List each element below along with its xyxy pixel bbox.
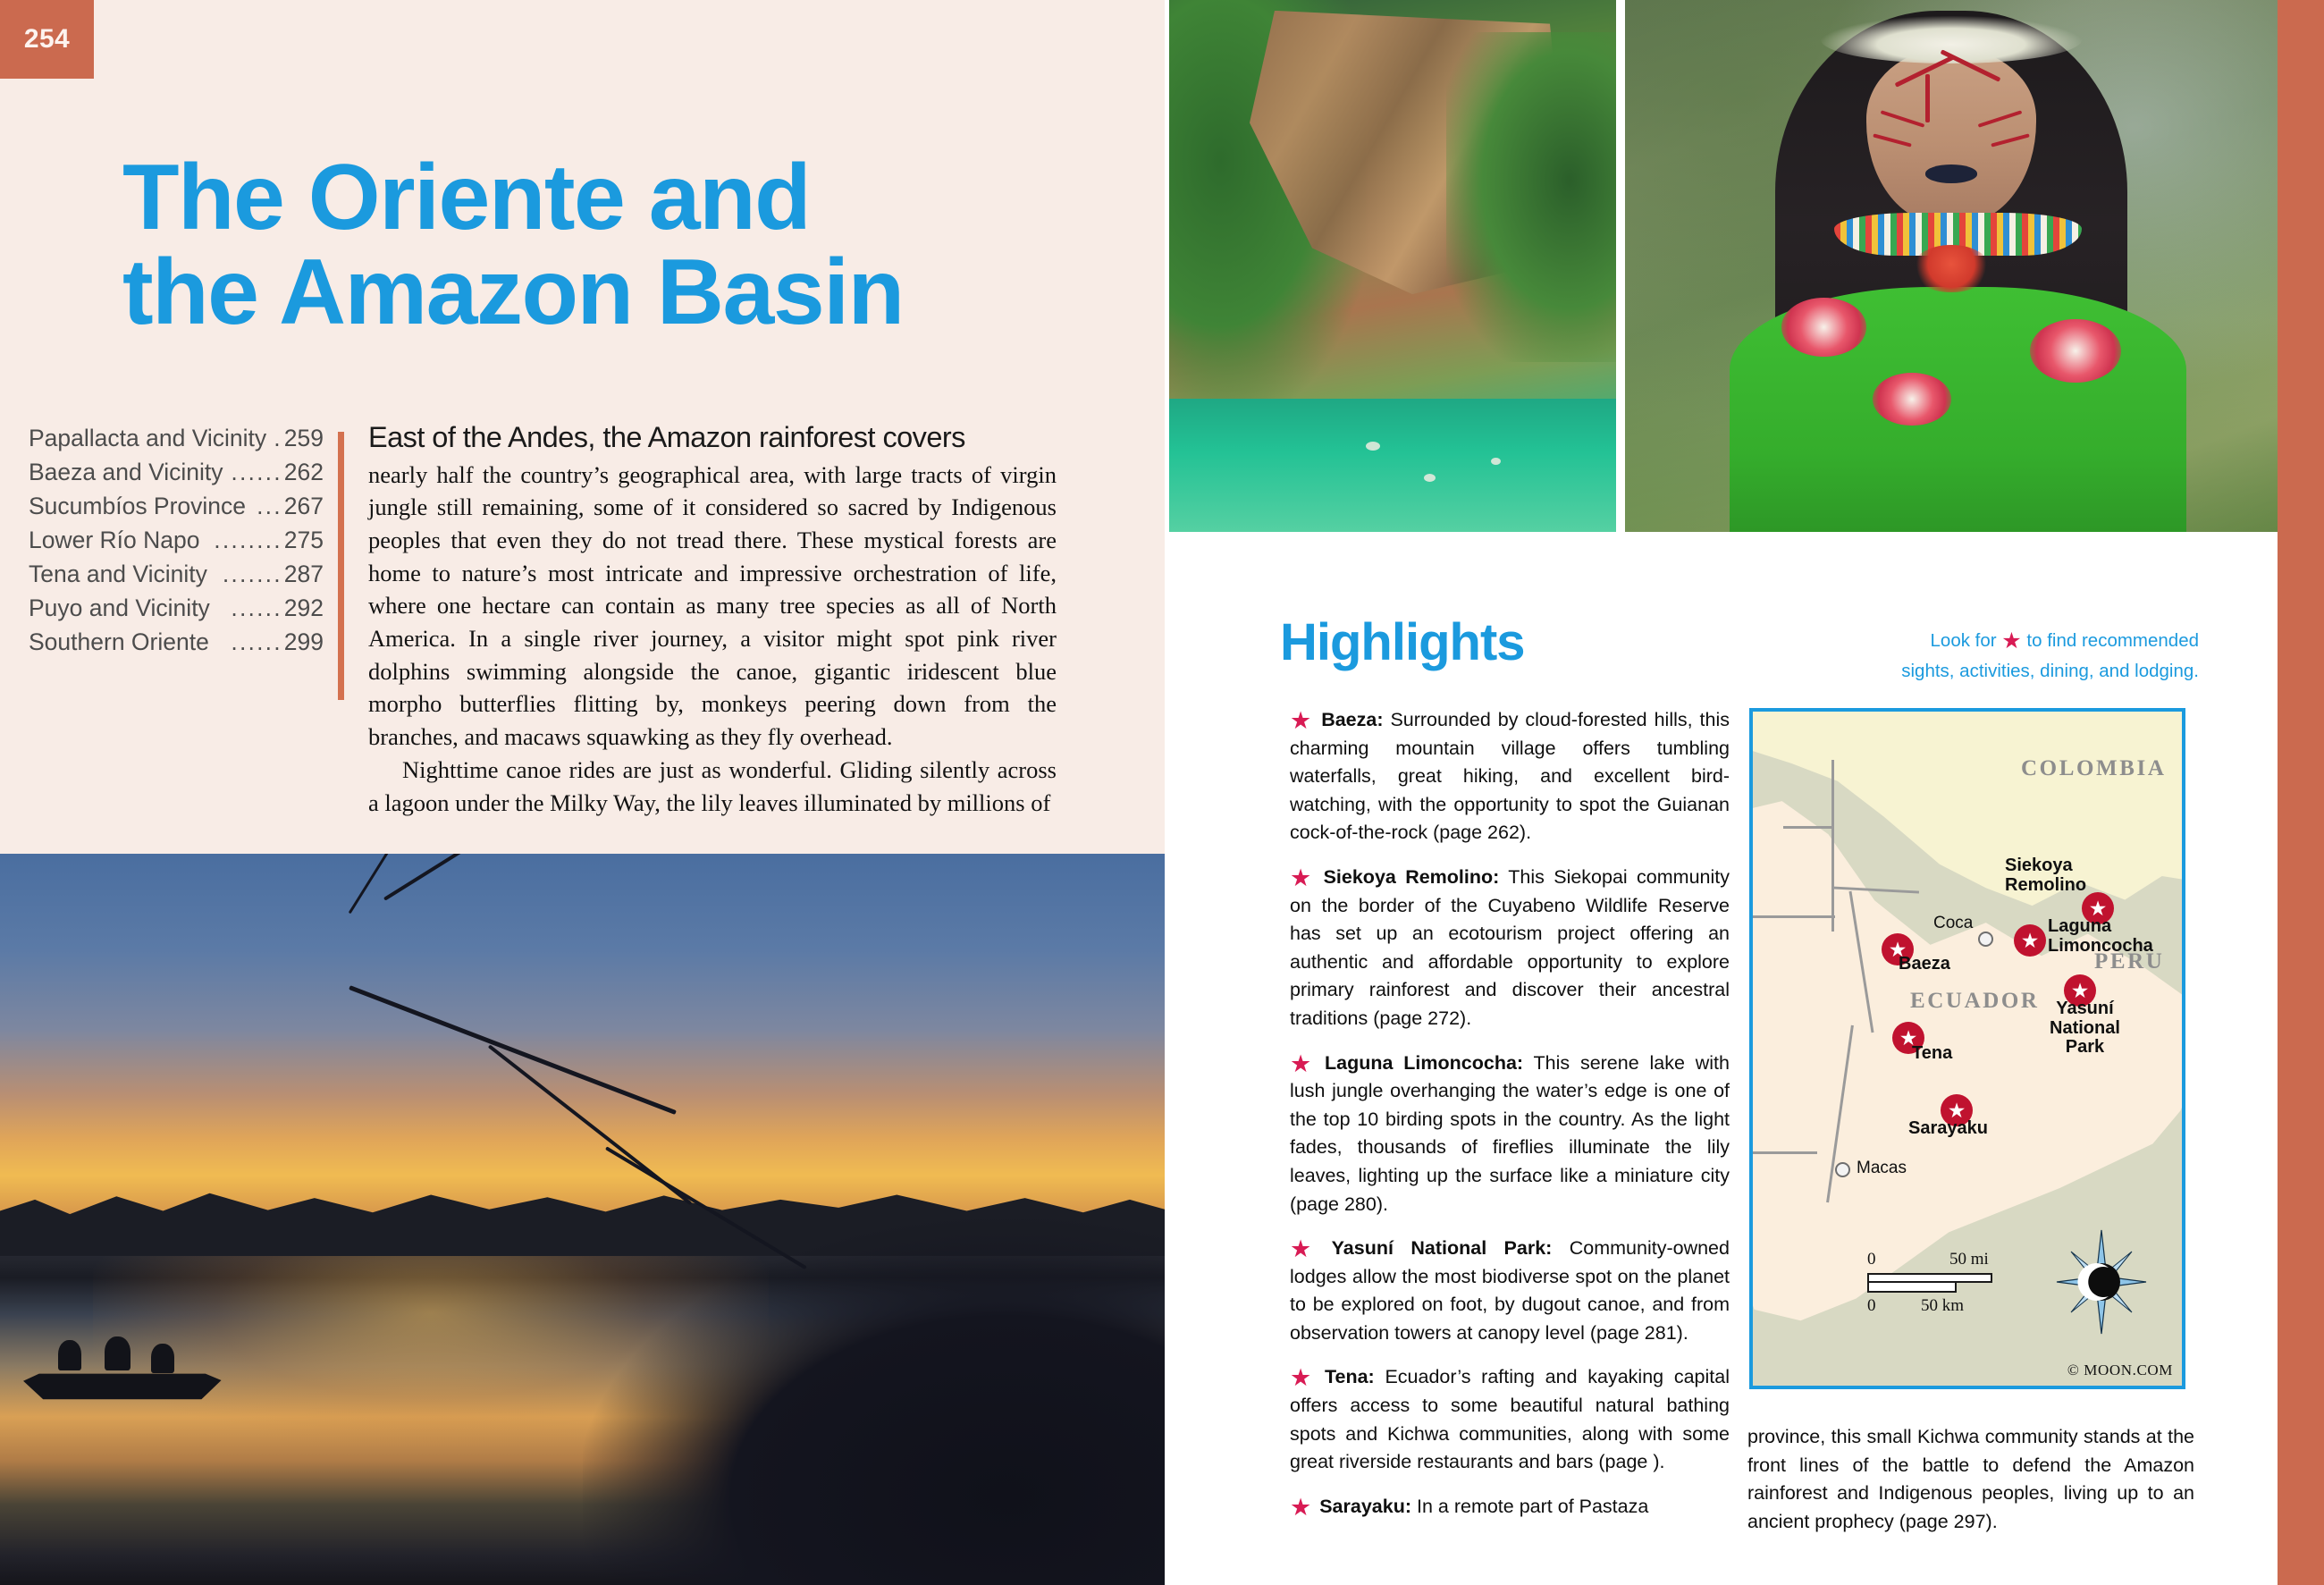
map-label-tena: Tena (1912, 1044, 1952, 1064)
toc-item-label: Southern Oriente (29, 630, 209, 654)
map-label-laguna-limoncocha: LagunaLimoncocha (2048, 917, 2153, 956)
toc-item[interactable]: Baeza and Vicinity ...... 262 (29, 460, 324, 485)
highlight-item-name: Baeza: (1321, 709, 1383, 730)
map-country-label-ecuador: ECUADOR (1910, 989, 2040, 1014)
toc-item-dots: ...... (210, 596, 284, 620)
photo-swimmer (1424, 474, 1436, 482)
toc-item-dots: ...... (209, 630, 284, 654)
photo-swimmer (1491, 458, 1501, 465)
map-border-line (1753, 915, 1835, 918)
toc-item-page: 299 (284, 630, 324, 654)
map-scale-bar-miles (1867, 1273, 1992, 1283)
photo-canoe-figure (105, 1336, 131, 1370)
toc-item[interactable]: Tena and Vicinity ....... 287 (29, 562, 324, 586)
intro-paragraph-2: Nighttime canoe rides are just as wonder… (368, 754, 1057, 819)
highlights-list: ★Baeza: Surrounded by cloud-forested hil… (1290, 706, 1730, 1537)
toc-item[interactable]: Lower Río Napo ........ 275 (29, 528, 324, 552)
map-scale-bar-km (1867, 1283, 1957, 1293)
photo-indigenous-woman-portrait (1625, 0, 2278, 532)
compass-rose-icon (2055, 1228, 2148, 1336)
toc-item-dots: ........ (200, 528, 284, 552)
highlight-item-name: Sarayaku: (1319, 1496, 1411, 1517)
map-border-line (1783, 826, 1833, 829)
map-scale-bar: 0 50 mi 0 50 km (1867, 1273, 1992, 1293)
star-icon: ★ (1290, 1494, 1311, 1521)
toc-item-dots: ...... (223, 460, 284, 485)
highlight-item-name: Yasuní National Park: (1332, 1237, 1553, 1259)
highlights-heading: Highlights (1280, 612, 1525, 672)
intro-body-1: nearly half the country’s geographical a… (368, 461, 1057, 751)
toc-item[interactable]: Sucumbíos Province ... 267 (29, 494, 324, 518)
highlight-item-text: This serene lake with lush jungle overha… (1290, 1052, 1730, 1215)
photo-green-lagoon (1169, 399, 1616, 532)
toc-item-page: 259 (284, 426, 324, 451)
toc-item-label: Puyo and Vicinity (29, 596, 210, 620)
highlight-item-text: In a remote part of Pastaza (1411, 1496, 1648, 1517)
toc-item[interactable]: Southern Oriente ...... 299 (29, 630, 324, 654)
page-edge-stripe (2278, 0, 2324, 1585)
map-border-line (1831, 760, 1834, 932)
table-of-contents: Papallacta and Vicinity . 259 Baeza and … (29, 426, 324, 664)
highlight-item[interactable]: ★Siekoya Remolino: This Siekopai communi… (1290, 864, 1730, 1033)
photo-canoe-figure (58, 1340, 81, 1370)
map-city-label-macas: Macas (1857, 1159, 1907, 1178)
page-title-line-2: the Amazon Basin (122, 245, 1070, 340)
highlight-item[interactable]: ★Baeza: Surrounded by cloud-forested hil… (1290, 706, 1730, 847)
map-label-sarayaku: Sarayaku (1908, 1119, 1988, 1139)
map-city-dot-coca (1978, 932, 1993, 947)
highlight-item-name: Tena: (1325, 1366, 1375, 1387)
map-label-baeza: Baeza (1899, 955, 1950, 974)
highlight-item[interactable]: ★Yasuní National Park: Community-owned l… (1290, 1235, 1730, 1347)
highlight-item[interactable]: ★Laguna Limoncocha: This serene lake wit… (1290, 1050, 1730, 1219)
toc-item-label: Baeza and Vicinity (29, 460, 223, 485)
star-icon: ★ (2001, 628, 2021, 653)
toc-item-dots: . (266, 426, 284, 451)
page-title-line-1: The Oriente and (122, 150, 1070, 245)
highlight-item-name: Siekoya Remolino: (1324, 866, 1500, 888)
toc-item-label: Sucumbíos Province (29, 494, 246, 518)
star-note-line1-post: to find recommended (2026, 630, 2199, 651)
toc-item-page: 292 (284, 596, 324, 620)
star-icon: ★ (1290, 1235, 1324, 1262)
photo-necklace-pendant (1912, 245, 1991, 293)
intro-lead-sentence: East of the Andes, the Amazon rainforest… (368, 420, 1057, 456)
toc-item-label: Lower Río Napo (29, 528, 200, 552)
intro-text-block: East of the Andes, the Amazon rainforest… (368, 420, 1057, 819)
photo-floral-motif (2030, 319, 2121, 383)
page-number-badge: 254 (0, 0, 94, 79)
page-title: The Oriente and the Amazon Basin (122, 150, 1070, 340)
photo-lips (1925, 164, 1977, 182)
photo-amazon-sunset-river (0, 854, 1165, 1585)
toc-item-dots: ... (246, 494, 284, 518)
star-legend-note: Look for ★ to find recommended sights, a… (1841, 626, 2199, 684)
star-icon: ★ (1290, 1050, 1317, 1077)
map-credit: © MOON.COM (2067, 1362, 2173, 1379)
intro-paragraph-1: East of the Andes, the Amazon rainforest… (368, 420, 1057, 754)
toc-item-page: 287 (284, 562, 324, 586)
highlight-item[interactable]: ★Sarayaku: In a remote part of Pastaza (1290, 1493, 1730, 1522)
region-map[interactable]: COLOMBIA ECUADOR PERU ★ SiekoyaRemolino … (1749, 708, 2185, 1389)
map-marker-laguna-limoncocha[interactable]: ★ (2014, 924, 2046, 957)
highlight-item[interactable]: ★Tena: Ecuador’s rafting and kayaking ca… (1290, 1363, 1730, 1476)
star-icon: ★ (1290, 1364, 1317, 1391)
highlight-item-name: Laguna Limoncocha: (1325, 1052, 1523, 1074)
map-label-yasuni-national-park: YasuníNationalPark (2050, 999, 2120, 1058)
map-city-label-coca: Coca (1933, 914, 1973, 933)
highlight-item-text: This Siekopai community on the border of… (1290, 866, 1730, 1029)
page-number: 254 (24, 24, 70, 55)
toc-item-page: 262 (284, 460, 324, 485)
left-page: 254 The Oriente and the Amazon Basin Pap… (0, 0, 1165, 1585)
photo-floral-motif (1873, 373, 1951, 426)
map-country-label-colombia: COLOMBIA (2021, 756, 2166, 781)
map-label-siekoya-remolino: SiekoyaRemolino (2005, 856, 2086, 895)
toc-item-page: 267 (284, 494, 324, 518)
photo-foliage (583, 1219, 1166, 1585)
photo-face (1866, 48, 2036, 223)
photo-river-canyon (1169, 0, 1616, 532)
toc-item-page: 275 (284, 528, 324, 552)
map-city-dot-macas (1835, 1162, 1850, 1177)
intro-accent-rule (338, 432, 344, 700)
star-note-line1-pre: Look for (1931, 630, 1997, 651)
toc-item[interactable]: Puyo and Vicinity ...... 292 (29, 596, 324, 620)
photo-canoe-figure (151, 1344, 174, 1373)
star-note-line2: sights, activities, dining, and lodging. (1901, 661, 2199, 681)
photo-vegetation-right (1446, 32, 1616, 362)
photo-face-paint (1925, 74, 1930, 122)
star-icon: ★ (1290, 864, 1316, 891)
map-border-line (1753, 1151, 1817, 1154)
toc-item[interactable]: Papallacta and Vicinity . 259 (29, 426, 324, 451)
map-scale-km-left: 0 (1867, 1296, 1876, 1316)
highlight-continuation-text: province, this small Kichwa community st… (1747, 1423, 2194, 1536)
photo-swimmer (1366, 442, 1380, 451)
toc-item-label: Papallacta and Vicinity (29, 426, 266, 451)
map-scale-mi-right: 50 mi (1949, 1250, 1989, 1269)
photo-floral-motif (1781, 298, 1866, 356)
toc-item-dots: ....... (207, 562, 284, 586)
photo-branch (383, 854, 524, 901)
map-scale-km-right: 50 km (1921, 1296, 1964, 1316)
star-icon: ★ (1290, 707, 1313, 734)
photo-branch (349, 985, 677, 1115)
toc-item-label: Tena and Vicinity (29, 562, 207, 586)
map-scale-mi-left: 0 (1867, 1250, 1876, 1269)
